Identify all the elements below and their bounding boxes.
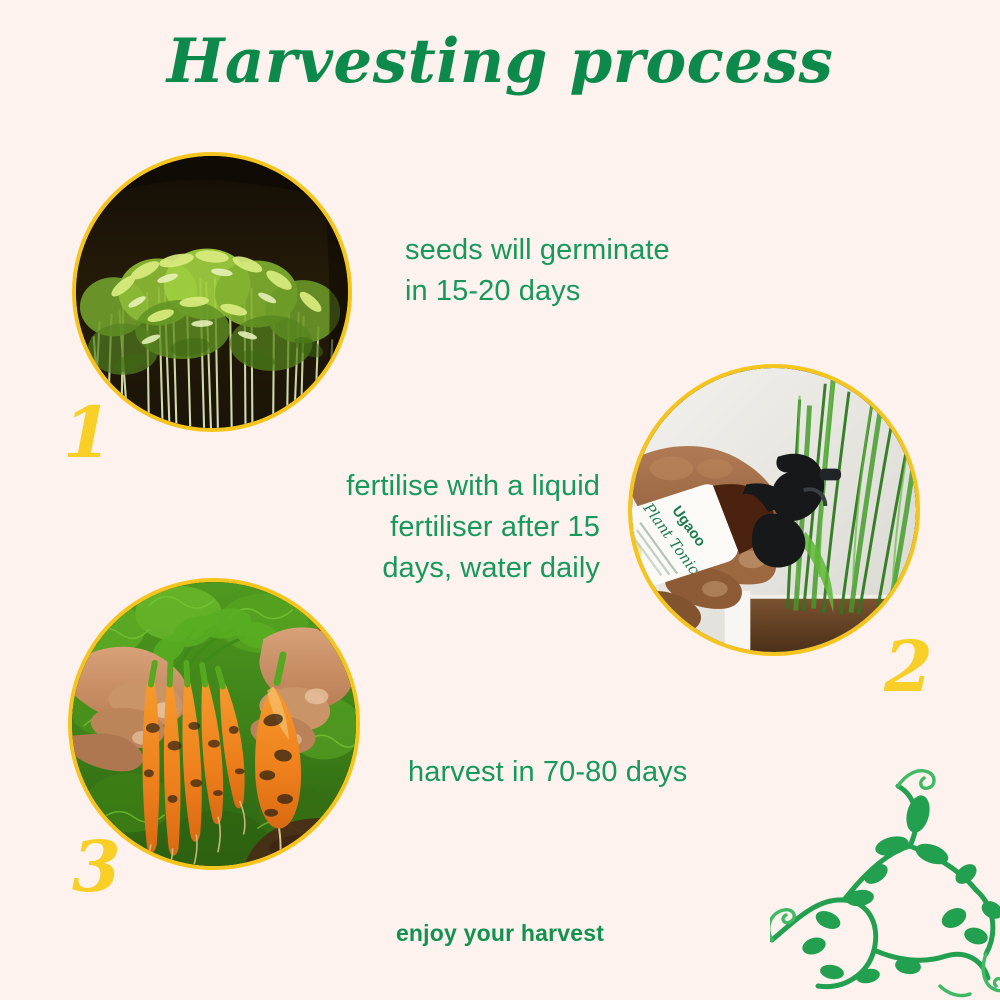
step-2-caption: fertilise with a liquid fertiliser after… — [300, 466, 600, 590]
plant-tonic-spray-artwork: Ugaoo Plant Tonic — [632, 368, 916, 652]
step-2-caption-line-2: fertiliser after 15 — [300, 507, 600, 548]
step-1-caption: seeds will germinate in 15-20 days — [405, 230, 735, 312]
step-1-number: 1 — [63, 398, 112, 468]
page-title: Harvesting process — [0, 26, 1000, 97]
microgreens-seedlings-photo — [76, 156, 348, 428]
step-1-image-circle — [72, 152, 352, 432]
vine-illustration — [770, 750, 1000, 1000]
harvested-carrots-photo — [72, 582, 356, 866]
step-3-caption-line-1: harvest in 70-80 days — [408, 752, 748, 793]
step-1-caption-line-2: in 15-20 days — [405, 271, 735, 312]
footer-note: enjoy your harvest — [0, 920, 1000, 947]
step-2-number: 2 — [884, 632, 933, 702]
step-2-caption-line-1: fertilise with a liquid — [300, 466, 600, 507]
step-1-caption-line-1: seeds will germinate — [405, 230, 735, 271]
spraying-plant-tonic-photo: Ugaoo Plant Tonic — [632, 368, 916, 652]
step-2-image-circle: Ugaoo Plant Tonic — [628, 364, 920, 656]
step-3-caption: harvest in 70-80 days — [408, 752, 748, 793]
microgreens-artwork — [76, 156, 348, 428]
carrot-harvest-artwork — [72, 582, 356, 866]
step-3-number: 3 — [72, 832, 121, 902]
harvesting-process-infographic: Harvesting process — [0, 0, 1000, 1000]
